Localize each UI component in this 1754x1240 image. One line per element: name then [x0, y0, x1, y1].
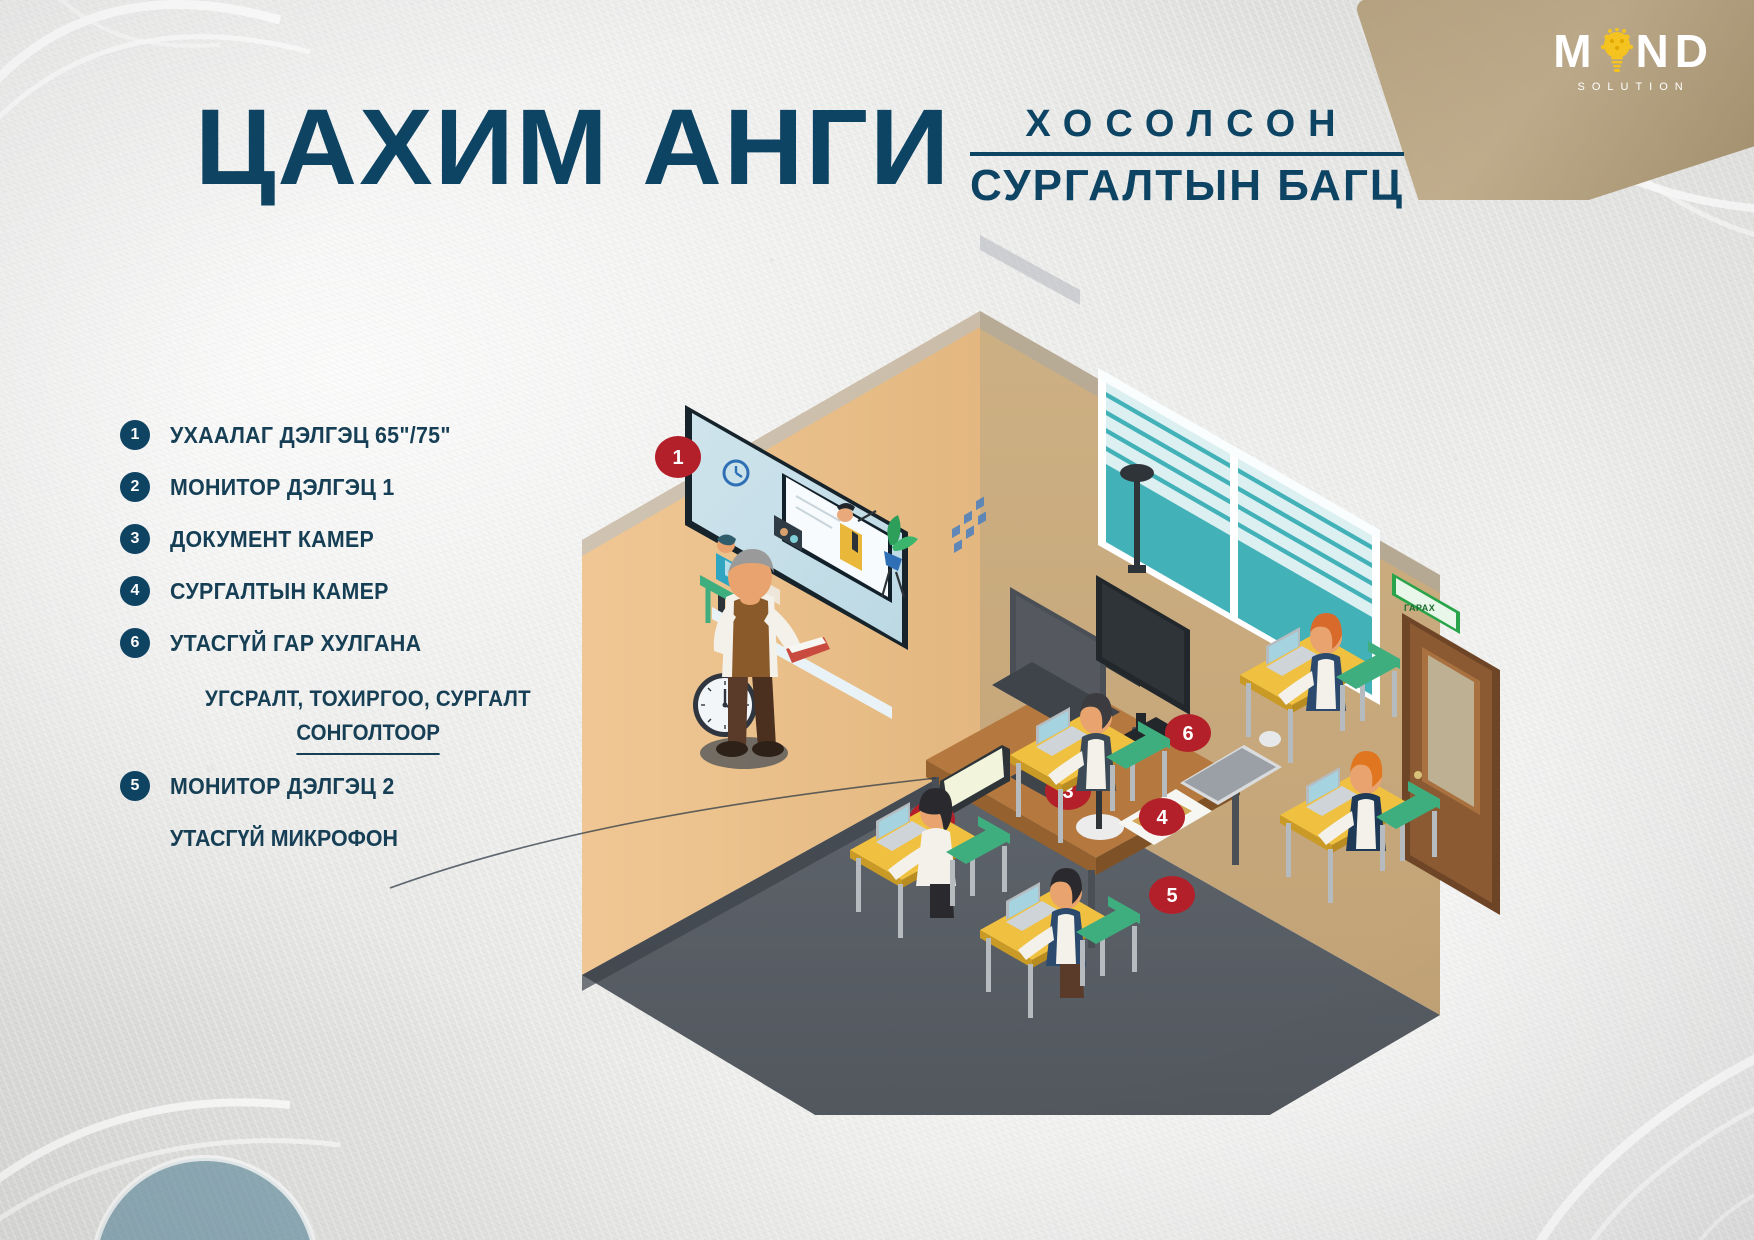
note-line-2: СОНГОЛТООР [296, 720, 440, 755]
exit-sign-label: ГАРАХ [1404, 603, 1435, 613]
decorative-swoosh-bottom-left [0, 940, 480, 1240]
logo-text-right: ND [1636, 28, 1714, 74]
marker-6: 6 [1165, 714, 1211, 752]
feature-number-badge: 6 [120, 628, 150, 658]
list-item: 4 СУРГАЛТЫН КАМЕР [120, 574, 590, 608]
feature-label: МОНИТОР ДЭЛГЭЦ 1 [170, 474, 395, 501]
svg-text:1: 1 [672, 447, 683, 469]
isometric-classroom-illustration: 1 [540, 215, 1600, 1115]
feature-number-badge: 2 [120, 472, 150, 502]
feature-list: 1 УХААЛАГ ДЭЛГЭЦ 65"/75" 2 МОНИТОР ДЭЛГЭ… [120, 418, 590, 852]
note-line-1: УГСРАЛТ, ТОХИРГОО, СУРГАЛТ [182, 686, 554, 712]
svg-text:5: 5 [1166, 885, 1177, 907]
feature-label: СУРГАЛТЫН КАМЕР [170, 578, 389, 605]
feature-label-wireless-microphone: УТАСГҮЙ МИКРОФОН [170, 825, 561, 852]
list-item: 6 УТАСГҮЙ ГАР ХУЛГАНА [120, 626, 590, 660]
lightbulb-icon [1598, 28, 1636, 74]
list-item: 3 ДОКУМЕНТ КАМЕР [120, 522, 590, 556]
page-title: ЦАХИМ АНГИ [195, 96, 936, 199]
logo: M [1553, 28, 1714, 93]
feature-number-badge: 4 [120, 576, 150, 606]
list-item: 5 МОНИТОР ДЭЛГЭЦ 2 [120, 769, 590, 803]
poster-canvas: M [0, 0, 1754, 1240]
marker-5: 5 [1149, 876, 1195, 914]
feature-label: УХААЛАГ ДЭЛГЭЦ 65"/75" [170, 422, 451, 449]
feature-label: МОНИТОР ДЭЛГЭЦ 2 [170, 773, 395, 800]
subtitle-line-1: ХОСОЛСОН [970, 104, 1404, 152]
feature-label: УТАСГҮЙ ГАР ХУЛГАНА [170, 630, 421, 657]
list-item: 2 МОНИТОР ДЭЛГЭЦ 1 [120, 470, 590, 504]
optional-services-note: УГСРАЛТ, ТОХИРГОО, СУРГАЛТ СОНГОЛТООР [168, 686, 568, 755]
marker-4: 4 [1139, 798, 1185, 836]
feature-number-badge: 3 [120, 524, 150, 554]
list-item: 1 УХААЛАГ ДЭЛГЭЦ 65"/75" [120, 418, 590, 452]
page-subtitle: ХОСОЛСОН СУРГАЛТЫН БАГЦ [970, 104, 1404, 210]
svg-text:4: 4 [1156, 807, 1168, 829]
logo-subtitle: SOLUTION [1553, 81, 1714, 93]
feature-label: ДОКУМЕНТ КАМЕР [170, 526, 374, 553]
feature-number-badge: 1 [120, 420, 150, 450]
logo-wordmark: M [1553, 28, 1714, 74]
marker-1: 1 [655, 436, 701, 478]
title-main-text: ЦАХИМ АНГИ [195, 96, 951, 199]
feature-number-badge: 5 [120, 771, 150, 801]
subtitle-line-2: СУРГАЛТЫН БАГЦ [970, 156, 1404, 210]
svg-text:6: 6 [1182, 723, 1193, 745]
logo-text-left: M [1553, 28, 1597, 74]
